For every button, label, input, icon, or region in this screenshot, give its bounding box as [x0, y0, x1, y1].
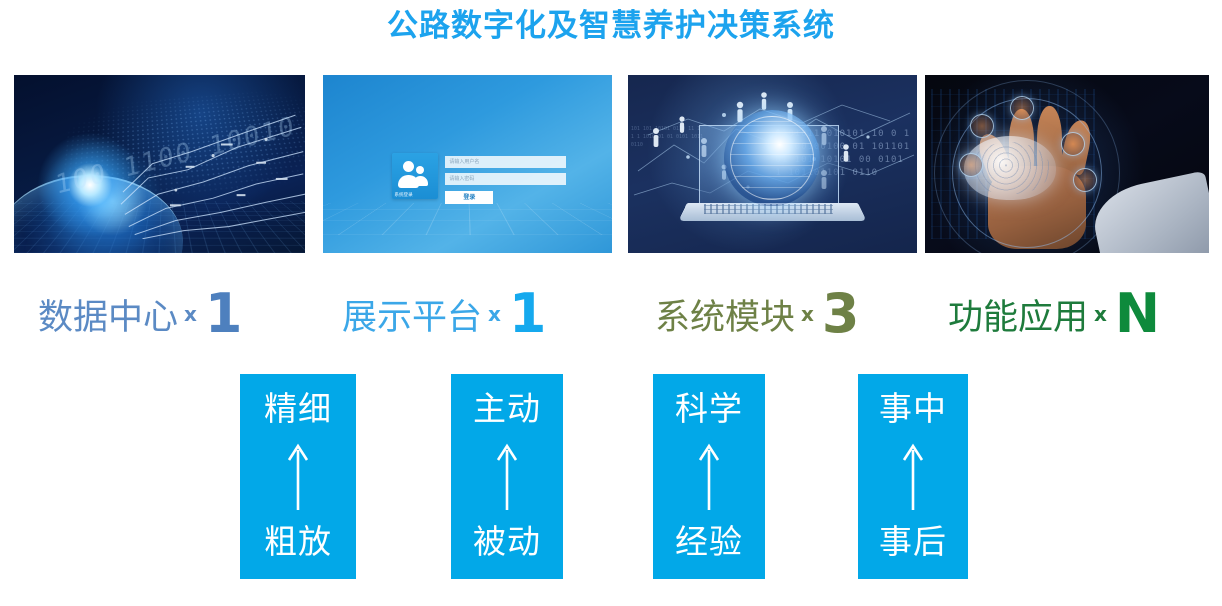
- screenshot-system-login-screen: 系统登录 请输入用户名 请输入密码 登录: [323, 75, 612, 253]
- user-avatar-icon: 系统登录: [392, 153, 438, 199]
- count-row: 数据中心 x 1 展示平台 x 1 系统模块 x 3 功能应用 x N: [0, 278, 1222, 350]
- count-value: 1: [205, 287, 243, 341]
- up-arrow-icon: [900, 440, 926, 512]
- screenshot-hand-ai-brain-hologram: [925, 75, 1209, 253]
- username-input[interactable]: 请输入用户名: [445, 156, 565, 168]
- count-item-system-module: 系统模块 x 3: [655, 278, 860, 350]
- screenshot-strip: 100 1100 10010 系统登录 请输入用户名 请输入密码 登录: [0, 75, 1222, 253]
- up-arrow-icon: [285, 440, 311, 512]
- glowing-globe-icon: [724, 110, 820, 206]
- card-refinement[interactable]: 精细 粗放: [240, 374, 356, 579]
- login-panel-label: 系统登录: [394, 192, 412, 198]
- card-bottom-text: 被动: [473, 523, 541, 561]
- count-item-function-application: 功能应用 x N: [948, 278, 1160, 350]
- count-multiplier: x: [184, 302, 197, 326]
- avatar-person-small-icon: [416, 166, 424, 174]
- card-row: 精细 粗放 主动 被动 科学 经验 事中: [0, 374, 1222, 579]
- count-label: 展示平台: [342, 289, 482, 340]
- up-arrow-icon: [696, 440, 722, 512]
- card-top-text: 事中: [879, 390, 947, 428]
- count-value: 1: [509, 287, 547, 341]
- count-multiplier: x: [801, 302, 814, 326]
- card-proactive[interactable]: 主动 被动: [451, 374, 563, 579]
- count-label: 数据中心: [38, 289, 178, 340]
- login-form: 系统登录 请输入用户名 请输入密码 登录: [392, 153, 565, 214]
- password-input[interactable]: 请输入密码: [445, 173, 565, 185]
- login-submit-button[interactable]: 登录: [445, 191, 493, 204]
- card-bottom-text: 粗放: [264, 523, 332, 561]
- count-item-display-platform: 展示平台 x 1: [342, 278, 547, 350]
- card-top-text: 主动: [473, 390, 541, 428]
- card-top-text: 科学: [675, 390, 743, 428]
- count-multiplier: x: [1094, 302, 1107, 326]
- screenshot-laptop-globe-bigdata: 101 101 10101 0110 11 1 1 1 1010 01 01 0…: [628, 75, 917, 253]
- count-label: 系统模块: [655, 289, 795, 340]
- card-top-text: 精细: [264, 390, 332, 428]
- login-fields: 请输入用户名 请输入密码 登录: [445, 153, 565, 214]
- count-label: 功能应用: [948, 289, 1088, 340]
- screenshot-digital-globe-network: 100 1100 10010: [14, 75, 305, 253]
- avatar-person-large-icon: [403, 161, 414, 172]
- count-multiplier: x: [488, 302, 501, 326]
- up-arrow-icon: [494, 440, 520, 512]
- laptop-shape: [683, 125, 862, 235]
- card-bottom-text: 事后: [879, 523, 947, 561]
- count-item-data-center: 数据中心 x 1: [38, 278, 243, 350]
- page-title: 公路数字化及智慧养护决策系统: [0, 4, 1222, 48]
- card-bottom-text: 经验: [675, 523, 743, 561]
- card-scientific[interactable]: 科学 经验: [653, 374, 765, 579]
- count-value: N: [1115, 287, 1160, 341]
- ai-node-icon-5: [1073, 168, 1097, 192]
- slide-root: 公路数字化及智慧养护决策系统: [0, 0, 1222, 606]
- card-during-event[interactable]: 事中 事后: [858, 374, 968, 579]
- count-value: 3: [822, 287, 860, 341]
